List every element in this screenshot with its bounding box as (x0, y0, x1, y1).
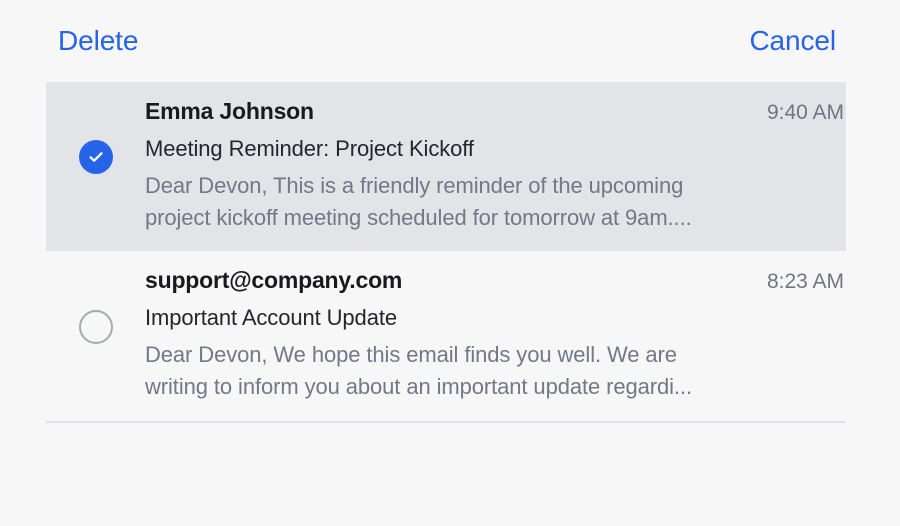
message-header: Emma Johnson 9:40 AM (145, 97, 844, 126)
message-sender: support@company.com (145, 266, 402, 295)
message-timestamp: 9:40 AM (767, 100, 844, 126)
select-checkbox[interactable] (46, 97, 145, 233)
message-sender: Emma Johnson (145, 97, 314, 126)
circle-outline-icon[interactable] (79, 310, 113, 344)
message-header: support@company.com 8:23 AM (145, 266, 844, 295)
check-circle-filled-icon[interactable] (79, 140, 113, 174)
message-preview-line: project kickoff meeting scheduled for to… (145, 202, 844, 234)
message-timestamp: 8:23 AM (767, 269, 844, 295)
message-list: Emma Johnson 9:40 AM Meeting Reminder: P… (0, 82, 900, 423)
cancel-button[interactable]: Cancel (749, 27, 836, 55)
delete-button[interactable]: Delete (58, 27, 138, 55)
message-list-item[interactable]: support@company.com 8:23 AM Important Ac… (46, 251, 846, 420)
message-preview-line: Dear Devon, We hope this email finds you… (145, 339, 844, 371)
message-content: Emma Johnson 9:40 AM Meeting Reminder: P… (145, 97, 846, 233)
message-preview-line: Dear Devon, This is a friendly reminder … (145, 170, 844, 202)
message-content: support@company.com 8:23 AM Important Ac… (145, 266, 846, 402)
message-preview: Dear Devon, We hope this email finds you… (145, 339, 844, 403)
action-toolbar: Delete Cancel (0, 0, 900, 82)
select-checkbox[interactable] (46, 266, 145, 402)
message-list-item[interactable]: Emma Johnson 9:40 AM Meeting Reminder: P… (46, 82, 846, 251)
message-preview-line: writing to inform you about an important… (145, 371, 844, 403)
message-subject: Meeting Reminder: Project Kickoff (145, 135, 844, 164)
message-subject: Important Account Update (145, 304, 844, 333)
list-divider (46, 421, 846, 423)
message-preview: Dear Devon, This is a friendly reminder … (145, 170, 844, 234)
